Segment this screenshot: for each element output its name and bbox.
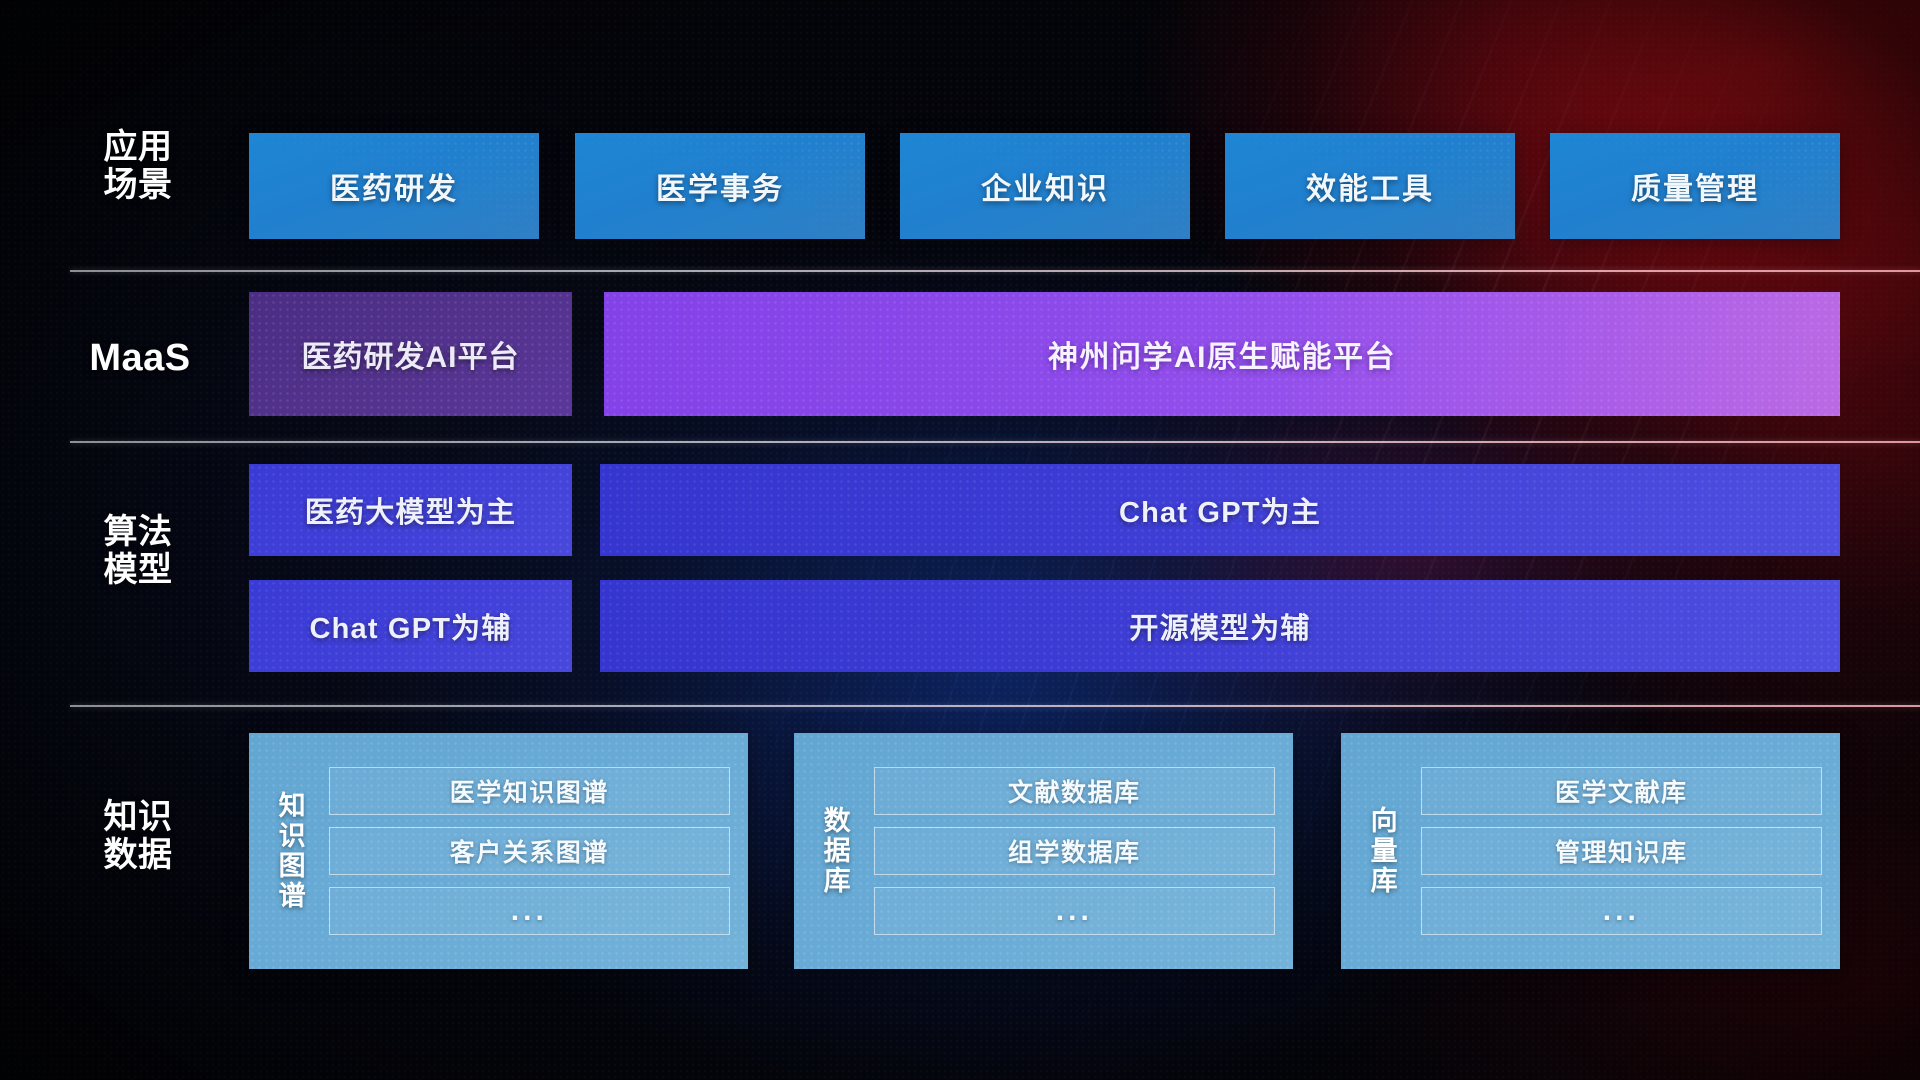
application-box-2[interactable]: 医学事务 [575,133,865,239]
maas-platform-label: 医药研发AI平台 [302,332,520,376]
row-separator-1 [70,270,1920,272]
maas-enablement-platform-label: 神州问学AI原生赋能平台 [1048,332,1396,376]
knowledge-item-label: 管理知识库 [1555,833,1688,869]
knowledge-item[interactable]: 医学知识图谱 [329,767,730,815]
row-label-algorithm: 算法 模型 [78,513,198,589]
knowledge-item[interactable]: 文献数据库 [874,767,1275,815]
algorithm-box-secondary-chatgpt[interactable]: Chat GPT为辅 [249,580,572,672]
knowledge-item-more-label: ... [511,894,548,928]
application-box-4[interactable]: 效能工具 [1225,133,1515,239]
knowledge-item-label: 文献数据库 [1008,773,1141,809]
row-label-application: 应用 场景 [78,128,198,204]
application-box-1[interactable]: 医药研发 [249,133,539,239]
knowledge-group-database-items: 文献数据库 组学数据库 ... [852,761,1275,941]
row-label-knowledge: 知识 数据 [78,798,198,874]
knowledge-item-label: 医学知识图谱 [450,773,609,809]
knowledge-item[interactable]: 组学数据库 [874,827,1275,875]
knowledge-item-more[interactable]: ... [329,887,730,935]
knowledge-item-more-label: ... [1056,894,1093,928]
knowledge-group-graph-title: 知识图谱 [271,791,307,911]
knowledge-group-vector-items: 医学文献库 管理知识库 ... [1399,761,1822,941]
row-label-maas: MaaS [70,337,210,380]
application-box-5[interactable]: 质量管理 [1550,133,1840,239]
algorithm-box-primary-medical[interactable]: 医药大模型为主 [249,464,572,556]
application-box-1-label: 医药研发 [330,164,458,208]
knowledge-item-label: 客户关系图谱 [450,833,609,869]
diagram-content: 应用 场景 医药研发 医学事务 企业知识 效能工具 质量管理 MaaS 医药研发… [0,0,1920,1080]
knowledge-group-vector-title: 向量库 [1363,806,1399,896]
knowledge-group-graph-items: 医学知识图谱 客户关系图谱 ... [307,761,730,941]
knowledge-item[interactable]: 医学文献库 [1421,767,1822,815]
application-box-5-label: 质量管理 [1631,164,1759,208]
knowledge-item-more-label: ... [1603,894,1640,928]
algorithm-box-primary-chatgpt-label: Chat GPT为主 [1119,489,1321,531]
algorithm-box-secondary-chatgpt-label: Chat GPT为辅 [309,605,511,647]
row-separator-3 [70,705,1920,707]
knowledge-item-more[interactable]: ... [1421,887,1822,935]
row-separator-2 [70,441,1920,443]
maas-enablement-platform-box[interactable]: 神州问学AI原生赋能平台 [604,292,1840,416]
diagram-canvas: 应用 场景 医药研发 医学事务 企业知识 效能工具 质量管理 MaaS 医药研发… [0,0,1920,1080]
knowledge-group-database[interactable]: 数据库 文献数据库 组学数据库 ... [794,733,1293,969]
knowledge-item-more[interactable]: ... [874,887,1275,935]
application-box-3[interactable]: 企业知识 [900,133,1190,239]
algorithm-box-primary-medical-label: 医药大模型为主 [305,489,516,531]
knowledge-group-database-title: 数据库 [816,806,852,896]
knowledge-group-vector[interactable]: 向量库 医学文献库 管理知识库 ... [1341,733,1840,969]
algorithm-box-primary-chatgpt[interactable]: Chat GPT为主 [600,464,1840,556]
knowledge-item[interactable]: 客户关系图谱 [329,827,730,875]
maas-platform-box[interactable]: 医药研发AI平台 [249,292,572,416]
application-box-3-label: 企业知识 [981,164,1109,208]
algorithm-box-secondary-opensource-label: 开源模型为辅 [1129,605,1310,647]
application-box-2-label: 医学事务 [656,164,784,208]
application-box-4-label: 效能工具 [1306,164,1434,208]
knowledge-group-graph[interactable]: 知识图谱 医学知识图谱 客户关系图谱 ... [249,733,748,969]
knowledge-item-label: 医学文献库 [1555,773,1688,809]
algorithm-box-secondary-opensource[interactable]: 开源模型为辅 [600,580,1840,672]
knowledge-item[interactable]: 管理知识库 [1421,827,1822,875]
knowledge-item-label: 组学数据库 [1008,833,1141,869]
